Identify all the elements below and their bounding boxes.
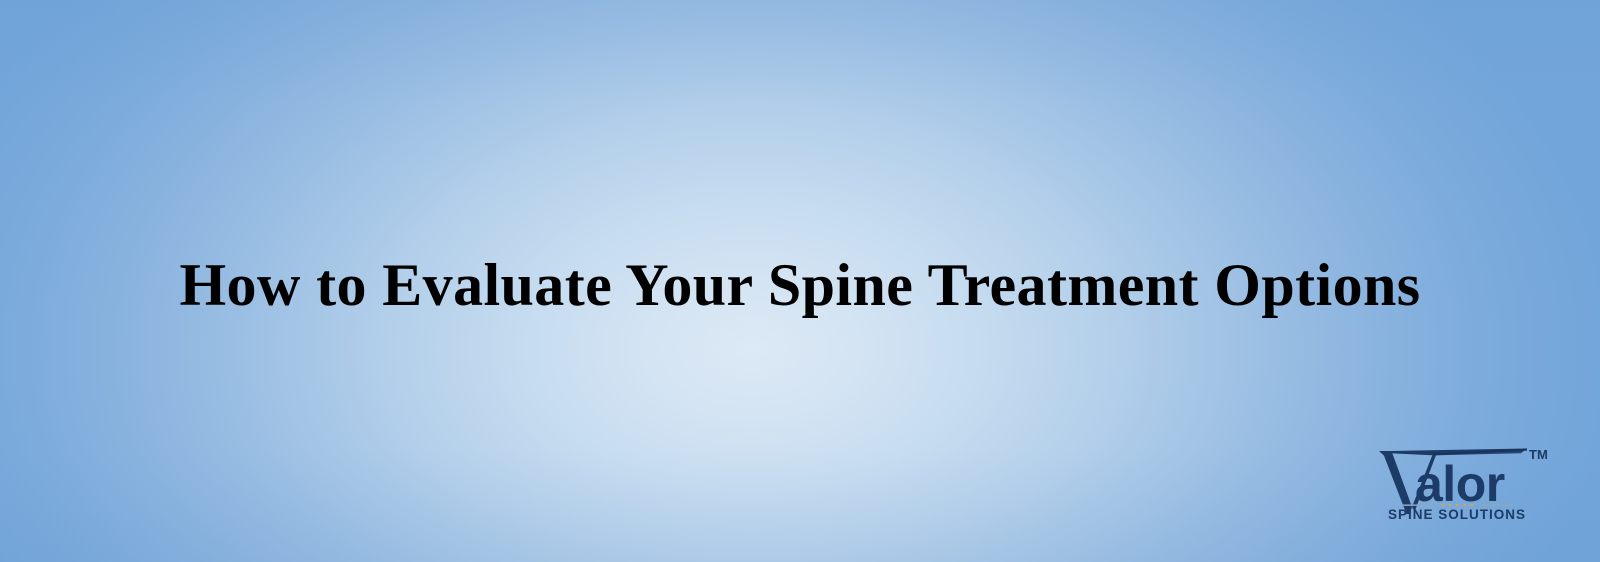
logo-wordmark-alor: alor [1415, 456, 1505, 512]
page-title: How to Evaluate Your Spine Treatment Opt… [0, 252, 1600, 319]
slide-canvas: How to Evaluate Your Spine Treatment Opt… [0, 0, 1600, 562]
logo-tagline: SPINE SOLUTIONS [1388, 507, 1526, 522]
trademark-symbol: TM [1529, 447, 1548, 462]
logo-artwork: alor TM SPINE SOLUTIONS [1371, 437, 1553, 523]
valor-spine-solutions-logo: alor TM SPINE SOLUTIONS [1371, 437, 1553, 523]
